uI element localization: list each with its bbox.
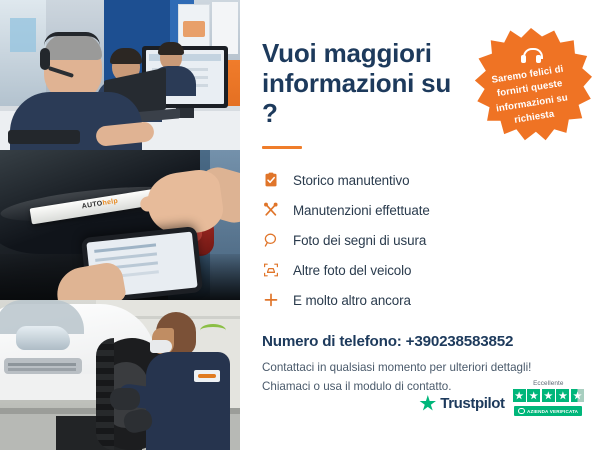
trustpilot-widget[interactable]: Trustpilot Eccellente AZIENDA VERIFICATA (419, 380, 584, 416)
phone-line[interactable]: Numero di telefono: +390238583852 (262, 333, 578, 350)
car-scan-icon (262, 261, 280, 279)
contact-subtext-line-1: Contattaci in qualsiasi momento per ulte… (262, 359, 578, 378)
verified-business-label: AZIENDA VERIFICATA (527, 409, 578, 414)
star-filled (556, 389, 569, 402)
trustpilot-star-rating (513, 389, 584, 402)
headset-icon (521, 48, 541, 64)
list-item: Foto dei segni di usura (262, 225, 578, 255)
call-center-agents-photo (0, 0, 240, 150)
trustpilot-wordmark: Trustpilot (440, 395, 504, 412)
verified-business-badge: AZIENDA VERIFICATA (514, 406, 582, 416)
wheel-inspection-photo (0, 300, 240, 450)
trustpilot-rating: Eccellente AZIENDA VERIFICATA (513, 380, 584, 416)
plus-icon (262, 291, 280, 309)
star-filled (527, 389, 540, 402)
star-filled (542, 389, 555, 402)
availability-badge: Saremo felici di fornirti queste informa… (470, 28, 592, 150)
list-item-label: Storico manutentivo (293, 173, 409, 188)
check-circle-icon (518, 408, 525, 415)
list-item: E molto altro ancora (262, 285, 578, 315)
star-filled (513, 389, 526, 402)
list-item: Storico manutentivo (262, 165, 578, 195)
clipboard-check-icon (262, 171, 280, 189)
feature-list: Storico manutentivo Manutenzioni effettu… (262, 165, 578, 315)
list-item: Altre foto del veicolo (262, 255, 578, 285)
list-item-label: Manutenzioni effettuate (293, 203, 430, 218)
list-item-label: Altre foto del veicolo (293, 263, 411, 278)
star-half (571, 389, 584, 402)
paint-thickness-check-photo: AUTOhelp (0, 150, 240, 300)
photo-column: AUTOhelp (0, 0, 240, 450)
trustpilot-rating-label: Eccellente (533, 380, 564, 387)
list-item: Manutenzioni effettuate (262, 195, 578, 225)
tools-cross-icon (262, 201, 280, 219)
promo-panel: AUTOhelp Vuoi maggiori informazioni su ? (0, 0, 600, 450)
content-panel: Vuoi maggiori informazioni su ? Saremo f… (240, 0, 600, 450)
trustpilot-star-icon (419, 395, 436, 412)
trustpilot-logo: Trustpilot (419, 395, 504, 416)
magnifier-icon (262, 231, 280, 249)
page-title: Vuoi maggiori informazioni su ? (262, 38, 472, 128)
list-item-label: Foto dei segni di usura (293, 233, 426, 248)
title-underline-rule (262, 146, 302, 149)
list-item-label: E molto altro ancora (293, 293, 411, 308)
